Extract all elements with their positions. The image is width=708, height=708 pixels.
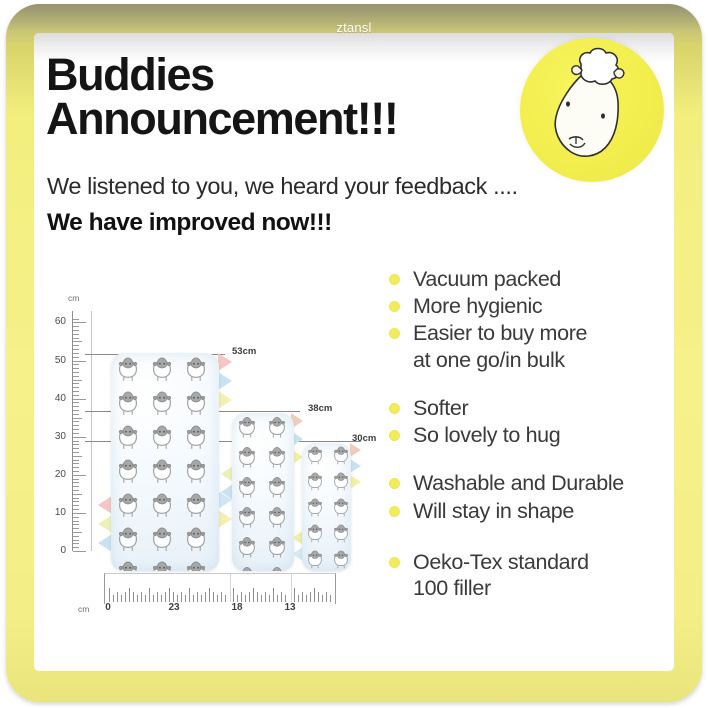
y-axis-tick (73, 521, 79, 522)
x-axis-ruler (104, 573, 336, 604)
y-axis-tick (73, 441, 79, 442)
x-axis-tick (326, 592, 327, 602)
x-axis-tick (169, 588, 170, 602)
tag-icon (218, 372, 232, 390)
x-axis-tick (310, 592, 311, 602)
y-axis-tick (73, 444, 79, 445)
y-axis-ruler (72, 311, 86, 551)
x-axis-tick (245, 595, 246, 602)
y-axis-tick-label-40: 40 (50, 393, 66, 404)
x-axis-tick (253, 588, 254, 602)
brand-logo (520, 38, 664, 182)
y-axis-tick (73, 486, 79, 487)
y-axis-tick (73, 341, 82, 342)
y-axis-tick (73, 448, 79, 449)
list-item: Easier to buy more at one go/in bulk (389, 320, 674, 372)
tag-icon (218, 353, 232, 371)
feature-group: Softer So lovely to hug (389, 395, 674, 448)
y-axis-tick (73, 353, 79, 354)
bullet-icon (389, 328, 400, 339)
y-axis-tick (73, 410, 79, 411)
y-axis-tick (73, 418, 82, 419)
y-axis-tick (73, 368, 79, 369)
bullet-icon (389, 301, 400, 312)
x-axis-tick (257, 592, 258, 602)
y-axis-tick (73, 345, 79, 346)
x-axis-tick (201, 595, 202, 602)
y-axis-tick (73, 322, 86, 323)
x-axis-tick (173, 592, 174, 602)
x-axis-tick (113, 595, 114, 602)
x-axis-tick (233, 588, 234, 602)
feature-group: Oeko-Tex standard 100 filler (389, 549, 674, 601)
x-axis-tick (153, 595, 154, 602)
feature-text: Will stay in shape (413, 498, 574, 524)
y-axis-tick (73, 536, 79, 537)
y-axis-tick (73, 361, 86, 362)
y-axis-tick (73, 319, 79, 320)
x-axis-separator (230, 574, 231, 602)
y-axis-tick (73, 513, 86, 514)
x-axis-tick (269, 595, 270, 602)
y-axis-tick (73, 475, 86, 476)
y-axis-tick (73, 387, 79, 388)
y-axis-unit-label: cm (68, 293, 79, 303)
pillow-large-53cm (111, 353, 219, 571)
x-axis-tick (161, 595, 162, 602)
feature-text: Washable and Durable (413, 470, 624, 496)
y-axis-tick (73, 471, 79, 472)
x-axis-tick (121, 595, 122, 602)
x-axis-tick (209, 588, 210, 602)
feature-text: So lovely to hug (413, 422, 560, 448)
list-item: Softer (389, 395, 674, 421)
y-axis-tick (73, 338, 79, 339)
watermark-text: ztansl (0, 20, 708, 35)
promo-poster: Buddies Announcement!!! We listened to y… (0, 0, 708, 708)
feature-text: More hygienic (413, 293, 542, 319)
x-axis-tick (213, 592, 214, 602)
subtitle-line: We listened to you, we heard your feedba… (47, 173, 567, 200)
bullet-icon (389, 478, 400, 489)
x-axis-tick (306, 595, 307, 602)
y-axis-tick-label-60: 60 (50, 316, 66, 327)
x-axis-tick (221, 592, 222, 602)
x-axis-tick (137, 595, 138, 602)
poster-card: Buddies Announcement!!! We listened to y… (34, 33, 674, 671)
x-axis-tick (281, 592, 282, 602)
x-axis-tick (185, 595, 186, 602)
page-title: Buddies Announcement!!! (46, 53, 516, 141)
y-axis-tick (73, 540, 79, 541)
sheep-icon (520, 38, 664, 182)
x-axis-tick (273, 588, 274, 602)
feature-list: Vacuum packed More hygienic Easier to bu… (389, 266, 674, 623)
x-axis-separator (291, 574, 292, 602)
y-axis-tick (73, 349, 79, 350)
x-axis-tick (241, 592, 242, 602)
y-axis-tick (73, 547, 79, 548)
x-axis-tick (205, 592, 206, 602)
x-axis-tick (261, 595, 262, 602)
y-axis-tick (73, 357, 79, 358)
tag-icon (218, 510, 232, 528)
y-axis-tick-label-50: 50 (50, 355, 66, 366)
y-axis-tick (73, 395, 79, 396)
feature-text: Oeko-Tex standard 100 filler (413, 549, 589, 601)
y-axis-tick-label-30: 30 (50, 431, 66, 442)
tag-icon (350, 443, 361, 457)
x-axis-tick (181, 592, 182, 602)
y-axis-tick (73, 372, 79, 373)
bullet-icon (389, 506, 400, 517)
list-item: Will stay in shape (389, 498, 674, 524)
y-axis-tick (73, 391, 79, 392)
y-axis-tick (73, 528, 79, 529)
list-item: Vacuum packed (389, 266, 674, 292)
x-axis-tick-23: 23 (162, 602, 186, 613)
bullet-icon (389, 403, 400, 414)
y-axis-tick (73, 406, 79, 407)
y-axis-tick-label-10: 10 (50, 507, 66, 518)
x-axis-tick (189, 588, 190, 602)
x-axis-tick (318, 592, 319, 602)
list-item: Oeko-Tex standard 100 filler (389, 549, 674, 601)
x-axis-tick (285, 595, 286, 602)
sheep-print-pattern (111, 353, 219, 571)
y-axis-tick (73, 364, 79, 365)
y-axis-tick (73, 460, 79, 461)
bullet-icon (389, 557, 400, 568)
dimension-label-large: 53cm (232, 346, 256, 357)
feature-group: Vacuum packed More hygienic Easier to bu… (389, 266, 674, 373)
pillow-medium-38cm (232, 413, 294, 571)
bullet-icon (389, 430, 400, 441)
y-axis-tick (73, 429, 79, 430)
tag-icon (350, 459, 361, 473)
tag-icon (98, 534, 112, 552)
y-axis-tick (73, 505, 79, 506)
sheep-print-pattern (302, 443, 351, 571)
y-axis-tick (73, 402, 79, 403)
x-axis-tick-0: 0 (96, 602, 120, 613)
y-axis-tick (73, 463, 79, 464)
y-axis-tick (73, 482, 79, 483)
y-axis-tick (73, 467, 79, 468)
x-axis-tick (197, 592, 198, 602)
x-axis-tick (237, 595, 238, 602)
sheep-print-pattern (232, 413, 294, 571)
feature-group: Washable and Durable Will stay in shape (389, 470, 674, 523)
y-axis-tick (73, 334, 79, 335)
x-axis-tick (129, 588, 130, 602)
y-axis-tick (73, 433, 79, 434)
y-axis-guide-line (91, 311, 92, 551)
y-axis-tick (73, 501, 79, 502)
subtitle-bold-line: We have improved now!!! (47, 209, 567, 237)
x-axis-tick (330, 595, 331, 602)
x-axis-tick (294, 588, 295, 602)
x-axis-tick (298, 595, 299, 602)
list-item: So lovely to hug (389, 422, 674, 448)
x-axis-tick (141, 592, 142, 602)
y-axis-tick (73, 479, 79, 480)
y-axis-tick (73, 498, 79, 499)
y-axis-tick (73, 543, 79, 544)
x-axis-tick (133, 592, 134, 602)
y-axis-tick (73, 399, 86, 400)
x-axis-tick-13: 13 (278, 602, 302, 613)
tag-icon (218, 391, 232, 409)
x-axis-tick (149, 588, 150, 602)
list-item: More hygienic (389, 293, 674, 319)
y-axis-tick (73, 456, 82, 457)
y-axis-tick (73, 421, 79, 422)
tag-icon (98, 496, 112, 514)
y-axis-tick (73, 326, 79, 327)
x-axis-tick (277, 595, 278, 602)
x-axis-tick (314, 588, 315, 602)
y-axis-tick (73, 551, 86, 552)
bullet-icon (389, 274, 400, 285)
y-axis-tick (73, 490, 79, 491)
x-axis-tick (145, 595, 146, 602)
x-axis-tick (109, 588, 110, 602)
x-axis-tick (225, 595, 226, 602)
x-axis-tick (193, 595, 194, 602)
y-axis-tick (73, 524, 79, 525)
dimension-label-medium: 38cm (308, 403, 332, 414)
x-axis-tick (302, 592, 303, 602)
y-axis-tick (73, 494, 82, 495)
y-axis-tick (73, 517, 79, 518)
y-axis-tick (73, 425, 79, 426)
feature-text: Softer (413, 395, 468, 421)
size-comparison-chart: cm 0102030405060 53cm 38cm 30cm (46, 291, 376, 621)
pillow-small-30cm (302, 443, 351, 571)
y-axis-tick (73, 376, 79, 377)
x-axis-tick (125, 592, 126, 602)
y-axis-tick (73, 509, 79, 510)
x-axis-tick (322, 595, 323, 602)
x-axis-tick (217, 595, 218, 602)
feature-text: Vacuum packed (413, 266, 561, 292)
y-axis-tick (73, 437, 86, 438)
y-axis-tick (73, 383, 79, 384)
feature-text: Easier to buy more at one go/in bulk (413, 320, 587, 372)
y-axis-tick (73, 532, 82, 533)
y-axis-tick (73, 452, 79, 453)
list-item: Washable and Durable (389, 470, 674, 496)
x-axis-tick (249, 592, 250, 602)
x-axis-tick (265, 592, 266, 602)
x-axis-tick-18: 18 (225, 602, 249, 613)
x-axis-tick (165, 592, 166, 602)
y-axis-tick-label-0: 0 (50, 545, 66, 556)
tag-icon (98, 515, 112, 533)
y-axis-tick-label-20: 20 (50, 469, 66, 480)
y-axis-tick (73, 330, 79, 331)
x-axis-tick (117, 592, 118, 602)
y-axis-tick (73, 380, 82, 381)
y-axis-tick (73, 414, 79, 415)
title-line-2: Announcement!!! (46, 97, 516, 141)
x-axis-tick (177, 595, 178, 602)
x-axis-unit-label: cm (78, 604, 89, 614)
x-axis-tick (157, 592, 158, 602)
tag-icon (350, 475, 361, 489)
